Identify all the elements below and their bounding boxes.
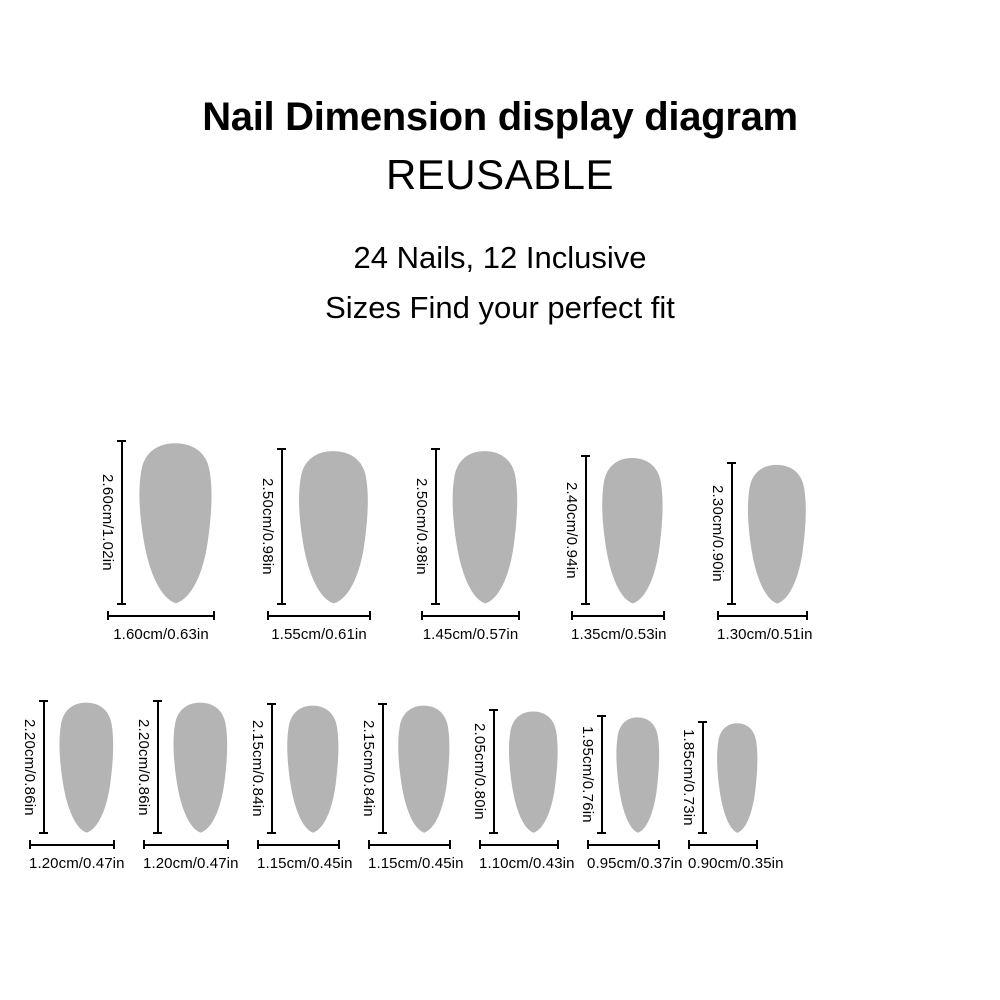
dimension-tick-icon: [717, 611, 719, 620]
height-dimension-line: [267, 703, 276, 834]
height-dimension-line: [153, 700, 162, 834]
page-title: Nail Dimension display diagram: [0, 0, 1000, 137]
nail-size-cell: 2.40cm/0.94in1.35cm/0.53in: [564, 455, 668, 642]
width-dimension-label: 0.90cm/0.35in: [688, 849, 758, 871]
dimension-tick-icon: [378, 703, 387, 705]
dimension-tick-icon: [597, 715, 606, 717]
dimension-tick-icon: [421, 611, 423, 620]
width-dimension-line: [479, 840, 559, 849]
nail-shape: [713, 721, 761, 834]
height-dimension-label: 2.50cm/0.98in: [260, 448, 277, 605]
nail-and-height-dimension: 1.95cm/0.76in: [580, 715, 663, 834]
width-dimension-line: [267, 611, 371, 620]
nail-and-height-dimension: 2.15cm/0.84in: [250, 703, 343, 834]
nail-shape: [282, 703, 343, 834]
height-dimension: 1.95cm/0.76in: [580, 715, 606, 834]
dimension-tick-icon: [277, 448, 286, 450]
height-dimension-label: 1.95cm/0.76in: [580, 715, 597, 834]
width-dimension-label: 1.45cm/0.57in: [421, 620, 520, 642]
nail-and-height-dimension: 2.20cm/0.86in: [136, 700, 232, 834]
width-dimension-line: [107, 611, 215, 620]
width-dimension-label: 1.10cm/0.43in: [479, 849, 559, 871]
height-dimension: 2.50cm/0.98in: [414, 448, 440, 605]
height-dimension: 2.05cm/0.80in: [472, 709, 498, 834]
height-dimension-label: 2.40cm/0.94in: [564, 455, 581, 605]
width-dimension-line: [368, 840, 451, 849]
dimension-tick-icon: [756, 840, 758, 849]
dimension-tick-icon: [143, 840, 145, 849]
dimension-tick-icon: [431, 448, 440, 450]
dimension-tick-icon: [277, 603, 286, 605]
width-dimension: 1.20cm/0.47in: [143, 840, 229, 871]
nail-and-height-dimension: 2.50cm/0.98in: [260, 448, 374, 605]
height-dimension-label: 2.05cm/0.80in: [472, 709, 489, 834]
nail-size-cell: 2.50cm/0.98in1.55cm/0.61in: [260, 448, 374, 642]
width-dimension-label: 1.20cm/0.47in: [29, 849, 115, 871]
nail-and-height-dimension: 2.60cm/1.02in: [100, 440, 218, 605]
height-dimension-line: [489, 709, 498, 834]
dimension-tick-icon: [698, 832, 707, 834]
width-dimension-label: 1.55cm/0.61in: [267, 620, 371, 642]
width-dimension-label: 0.95cm/0.37in: [587, 849, 660, 871]
width-dimension-line: [688, 840, 758, 849]
dimension-tick-icon: [39, 700, 48, 702]
dimension-tick-icon: [368, 840, 370, 849]
dimension-tick-icon: [113, 840, 115, 849]
dimension-tick-icon: [213, 611, 215, 620]
nail-size-cell: 2.30cm/0.90in1.30cm/0.51in: [710, 462, 811, 642]
dimension-tick-icon: [727, 462, 736, 464]
height-dimension-label: 2.50cm/0.98in: [414, 448, 431, 605]
nail-size-cell: 2.20cm/0.86in1.20cm/0.47in: [136, 700, 232, 871]
height-dimension-line: [277, 448, 286, 605]
dimension-tick-icon: [489, 832, 498, 834]
dimension-tick-icon: [267, 611, 269, 620]
dimension-tick-icon: [153, 832, 162, 834]
width-dimension: 1.55cm/0.61in: [267, 611, 371, 642]
dimension-tick-icon: [267, 832, 276, 834]
width-dimension-label: 1.20cm/0.47in: [143, 849, 229, 871]
height-dimension: 2.20cm/0.86in: [22, 700, 48, 834]
nail-shape: [168, 700, 232, 834]
width-dimension-label: 1.35cm/0.53in: [571, 620, 665, 642]
height-dimension-label: 2.15cm/0.84in: [361, 703, 378, 834]
dimension-tick-icon: [557, 840, 559, 849]
width-dimension-line: [421, 611, 520, 620]
dimension-tick-icon: [431, 603, 440, 605]
dimension-tick-icon: [571, 611, 573, 620]
width-dimension-label: 1.60cm/0.63in: [107, 620, 215, 642]
height-dimension-line: [727, 462, 736, 605]
nail-shape: [596, 455, 668, 605]
nail-and-height-dimension: 1.85cm/0.73in: [681, 721, 761, 834]
nail-size-cell: 1.85cm/0.73in0.90cm/0.35in: [681, 721, 761, 871]
height-dimension: 2.50cm/0.98in: [260, 448, 286, 605]
nail-and-height-dimension: 2.05cm/0.80in: [472, 709, 562, 834]
width-dimension: 1.30cm/0.51in: [717, 611, 808, 642]
dimension-tick-icon: [518, 611, 520, 620]
height-dimension-label: 2.15cm/0.84in: [250, 703, 267, 834]
dimension-tick-icon: [267, 703, 276, 705]
height-dimension-line: [431, 448, 440, 605]
width-dimension: 1.10cm/0.43in: [479, 840, 559, 871]
width-dimension-line: [717, 611, 808, 620]
nail-shape: [393, 703, 454, 834]
tagline-line-1: 24 Nails, 12 Inclusive: [354, 240, 647, 275]
nail-row-2: 2.20cm/0.86in1.20cm/0.47in2.20cm/0.86in1…: [0, 700, 1000, 871]
dimension-tick-icon: [663, 611, 665, 620]
width-dimension: 1.60cm/0.63in: [107, 611, 215, 642]
dimension-tick-icon: [727, 603, 736, 605]
nail-shape: [446, 448, 523, 605]
width-dimension: 1.15cm/0.45in: [368, 840, 451, 871]
tagline: 24 Nails, 12 Inclusive Sizes Find your p…: [0, 196, 1000, 333]
nail-and-height-dimension: 2.15cm/0.84in: [361, 703, 454, 834]
height-dimension: 2.20cm/0.86in: [136, 700, 162, 834]
height-dimension: 1.85cm/0.73in: [681, 721, 707, 834]
dimension-tick-icon: [338, 840, 340, 849]
height-dimension: 2.30cm/0.90in: [710, 462, 736, 605]
height-dimension-line: [39, 700, 48, 834]
dimension-tick-icon: [227, 840, 229, 849]
height-dimension-label: 1.85cm/0.73in: [681, 721, 698, 834]
dimension-tick-icon: [688, 840, 690, 849]
dimension-tick-icon: [581, 455, 590, 457]
height-dimension: 2.15cm/0.84in: [250, 703, 276, 834]
dimension-tick-icon: [117, 440, 126, 442]
height-dimension: 2.15cm/0.84in: [361, 703, 387, 834]
width-dimension: 0.95cm/0.37in: [587, 840, 660, 871]
width-dimension-label: 1.30cm/0.51in: [717, 620, 808, 642]
width-dimension: 1.45cm/0.57in: [421, 611, 520, 642]
nail-size-cell: 2.15cm/0.84in1.15cm/0.45in: [361, 703, 454, 871]
width-dimension: 1.35cm/0.53in: [571, 611, 665, 642]
dimension-tick-icon: [29, 840, 31, 849]
nail-shape: [612, 715, 663, 834]
dimension-tick-icon: [658, 840, 660, 849]
dimension-tick-icon: [369, 611, 371, 620]
dimension-tick-icon: [449, 840, 451, 849]
width-dimension-label: 1.15cm/0.45in: [368, 849, 451, 871]
nail-size-cell: 2.05cm/0.80in1.10cm/0.43in: [472, 709, 562, 871]
width-dimension-label: 1.15cm/0.45in: [257, 849, 340, 871]
nail-size-cell: 2.60cm/1.02in1.60cm/0.63in: [100, 440, 218, 642]
dimension-tick-icon: [153, 700, 162, 702]
width-dimension: 1.20cm/0.47in: [29, 840, 115, 871]
header: Nail Dimension display diagram REUSABLE …: [0, 0, 1000, 333]
height-dimension-label: 2.20cm/0.86in: [22, 700, 39, 834]
dimension-tick-icon: [479, 840, 481, 849]
nail-row-1: 2.60cm/1.02in1.60cm/0.63in2.50cm/0.98in1…: [0, 440, 1000, 642]
width-dimension-line: [587, 840, 660, 849]
width-dimension-line: [143, 840, 229, 849]
nail-shape: [292, 448, 374, 605]
width-dimension: 0.90cm/0.35in: [688, 840, 758, 871]
height-dimension-label: 2.30cm/0.90in: [710, 462, 727, 605]
height-dimension-line: [698, 721, 707, 834]
width-dimension: 1.15cm/0.45in: [257, 840, 340, 871]
height-dimension: 2.40cm/0.94in: [564, 455, 590, 605]
nail-size-cell: 2.15cm/0.84in1.15cm/0.45in: [250, 703, 343, 871]
dimension-tick-icon: [39, 832, 48, 834]
dimension-tick-icon: [107, 611, 109, 620]
nail-and-height-dimension: 2.40cm/0.94in: [564, 455, 668, 605]
height-dimension-line: [581, 455, 590, 605]
nail-shape: [54, 700, 118, 834]
nail-size-cell: 2.20cm/0.86in1.20cm/0.47in: [22, 700, 118, 871]
dimension-tick-icon: [117, 603, 126, 605]
nail-shape: [742, 462, 811, 605]
dimension-tick-icon: [489, 709, 498, 711]
nail-and-height-dimension: 2.20cm/0.86in: [22, 700, 118, 834]
dimension-tick-icon: [698, 721, 707, 723]
dimension-tick-icon: [806, 611, 808, 620]
height-dimension-line: [378, 703, 387, 834]
dimension-tick-icon: [581, 603, 590, 605]
page-subtitle: REUSABLE: [0, 137, 1000, 196]
width-dimension-line: [571, 611, 665, 620]
dimension-tick-icon: [597, 832, 606, 834]
width-dimension-line: [257, 840, 340, 849]
dimension-tick-icon: [378, 832, 387, 834]
tagline-line-2: Sizes Find your perfect fit: [0, 283, 1000, 333]
nail-and-height-dimension: 2.30cm/0.90in: [710, 462, 811, 605]
height-dimension-label: 2.20cm/0.86in: [136, 700, 153, 834]
height-dimension-line: [597, 715, 606, 834]
nail-shape: [132, 440, 218, 605]
nail-and-height-dimension: 2.50cm/0.98in: [414, 448, 523, 605]
height-dimension: 2.60cm/1.02in: [100, 440, 126, 605]
nail-shape: [504, 709, 562, 834]
nail-size-cell: 1.95cm/0.76in0.95cm/0.37in: [580, 715, 663, 871]
height-dimension-line: [117, 440, 126, 605]
width-dimension-line: [29, 840, 115, 849]
nail-size-cell: 2.50cm/0.98in1.45cm/0.57in: [414, 448, 523, 642]
dimension-tick-icon: [587, 840, 589, 849]
height-dimension-label: 2.60cm/1.02in: [100, 440, 117, 605]
dimension-tick-icon: [257, 840, 259, 849]
